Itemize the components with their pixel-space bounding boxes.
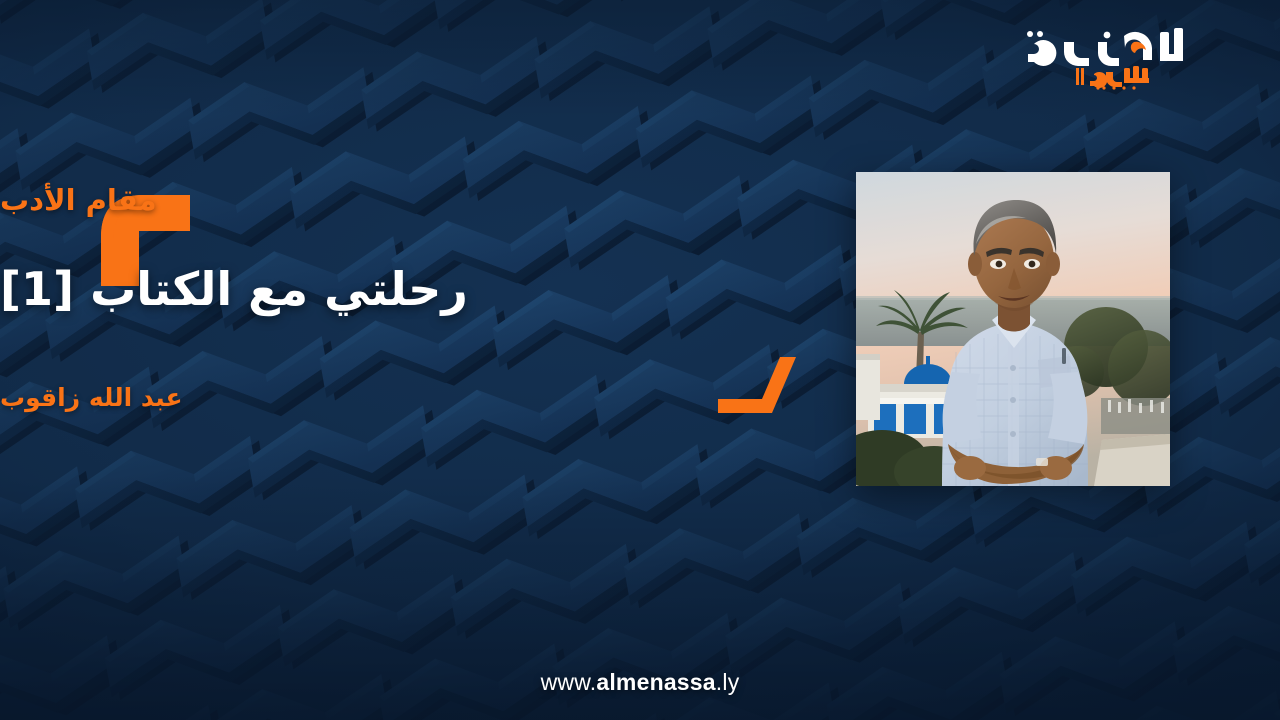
headline-text: رحلتي مع الكتاب [1]: [0, 262, 468, 316]
url-domain: almenassa: [596, 669, 715, 695]
url-tld: .ly: [716, 669, 740, 695]
page-title: رحلتي مع الكتاب [1]: [0, 262, 610, 316]
quote-bracket-small-icon: [710, 355, 800, 415]
author-portrait-image: [856, 172, 1170, 486]
footer-website-url[interactable]: www.almenassa.ly: [0, 669, 1280, 696]
url-prefix: www.: [541, 669, 597, 695]
kicker-label: مقام الأدب: [0, 183, 788, 217]
author-portrait: [856, 172, 1170, 486]
author-name: عبد الله زاقوب: [0, 383, 183, 412]
kicker-text: مقام الأدب: [0, 183, 157, 217]
author-byline: عبد الله زاقوب: [0, 383, 315, 412]
cover-canvas: THE LIBYAN PLATFORM مقام الأدب رحلتي مع …: [0, 0, 1280, 720]
